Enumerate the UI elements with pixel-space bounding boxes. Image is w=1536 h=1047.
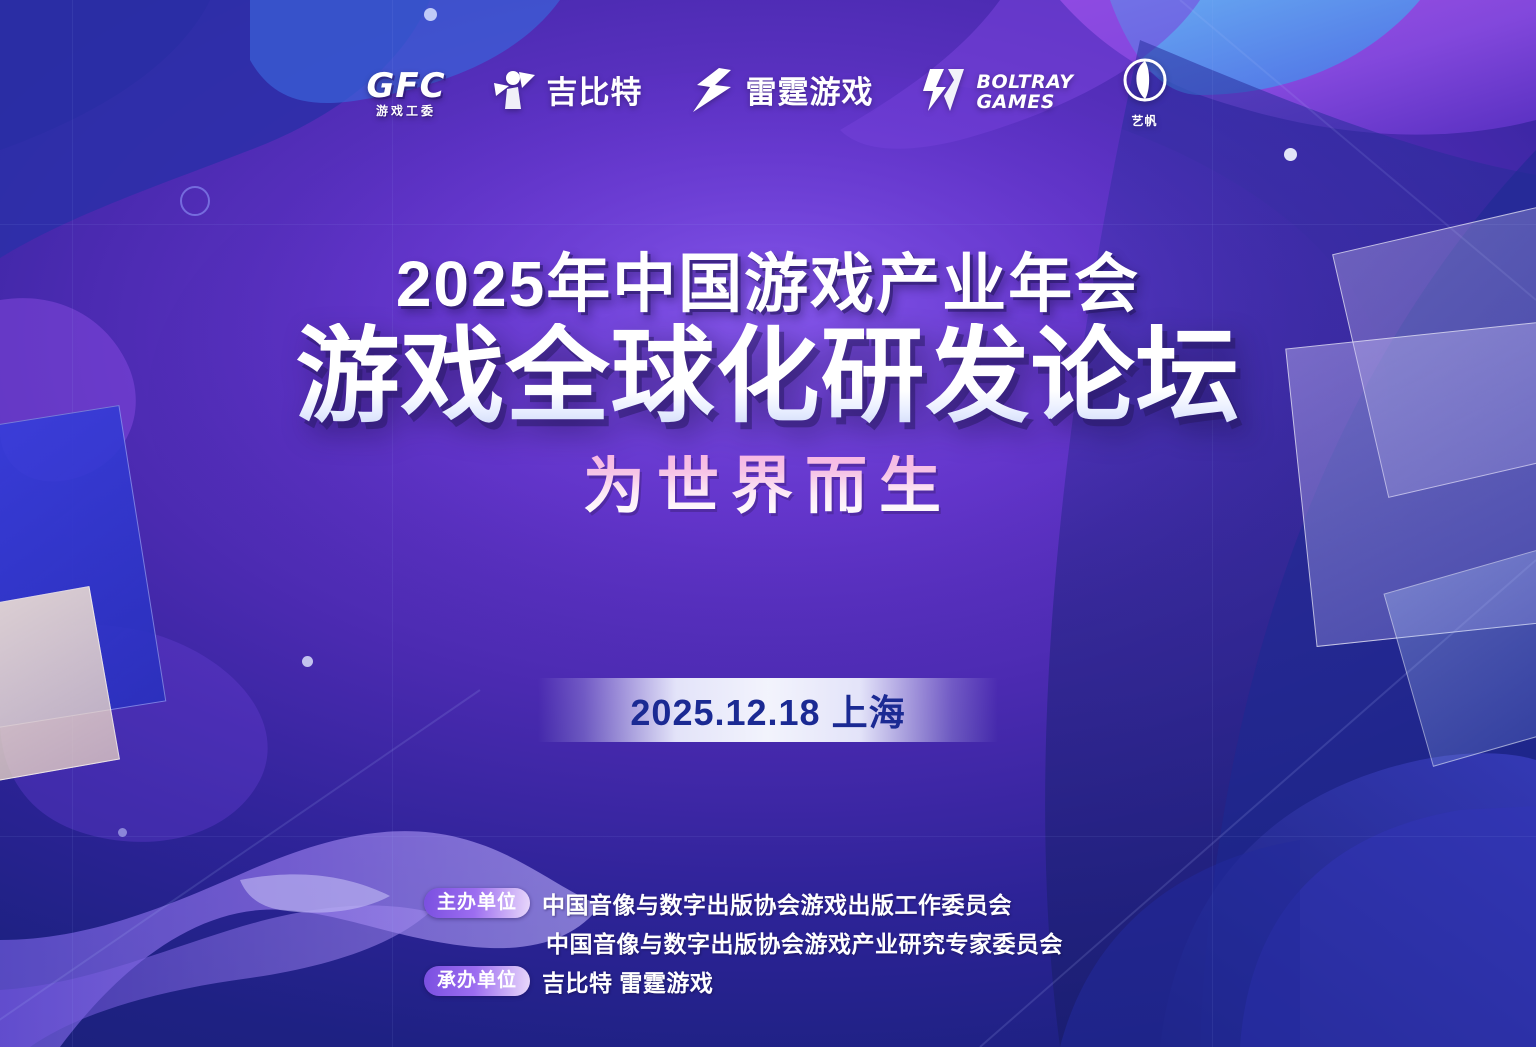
logo-yifan[interactable]: 艺帆 [1120,56,1170,129]
credit-row-organizer: 主办单位 中国音像与数字出版协会游戏出版工作委员会 [424,886,1063,920]
headings-block: 2025年中国游戏产业年会 游戏全球化研发论坛 为世界而生 [0,250,1536,517]
grid-line-vertical [1212,0,1213,1047]
event-year-title: 2025年中国游戏产业年会 [0,250,1536,319]
dot-decoration [424,8,437,21]
poster-root: GFC 游戏工委 吉比特 雷霆游戏 [0,0,1536,1047]
page-title: 游戏全球化研发论坛 [0,323,1536,431]
gfc-logo-icon: GFC [366,69,445,103]
gfc-logo-subtitle: 游戏工委 [376,105,436,117]
dot-decoration [118,828,127,837]
boltray-line2: GAMES [977,91,1055,113]
credit-row-host: 承办单位 吉比特 雷霆游戏 [424,964,1063,998]
jibit-logo-icon [492,67,538,118]
date-location-banner: 2025.12.18 上海 [538,678,998,742]
yifan-logo-label: 艺帆 [1132,112,1158,129]
date-location-text: 2025.12.18 上海 [630,684,905,736]
host-badge: 承办单位 [424,966,530,996]
logo-leiting[interactable]: 雷霆游戏 [689,67,874,118]
logo-boltray[interactable]: BOLTRAY GAMES [920,66,1074,119]
boltray-logo-label: BOLTRAY GAMES [977,73,1074,113]
logo-gfc[interactable]: GFC 游戏工委 [366,69,445,117]
circle-ring-decoration [180,186,210,216]
organizer-badge: 主办单位 [424,888,530,918]
logo-jibit[interactable]: 吉比特 [492,67,643,118]
dot-decoration [302,656,313,667]
bolt-logo-icon [689,67,737,118]
jibit-logo-label: 吉比特 [547,77,643,108]
credits-block: 主办单位 中国音像与数字出版协会游戏出版工作委员会 中国音像与数字出版协会游戏产… [424,886,1063,998]
credit-row-organizer-2: 中国音像与数字出版协会游戏产业研究专家委员会 [424,925,1063,959]
tagline: 为世界而生 [0,455,1536,517]
sponsor-logo-bar: GFC 游戏工委 吉比特 雷霆游戏 [0,56,1536,129]
organizer-line-1: 中国音像与数字出版协会游戏出版工作委员会 [542,886,1012,920]
yifan-logo-icon [1120,56,1170,111]
host-line: 吉比特 雷霆游戏 [542,964,713,998]
grid-line-horizontal [0,836,1536,837]
dot-decoration [1284,148,1297,161]
grid-line-vertical [392,0,393,1047]
grid-line-horizontal [0,224,1536,225]
boltray-line1: BOLTRAY [977,71,1074,93]
organizer-line-2: 中国音像与数字出版协会游戏产业研究专家委员会 [546,925,1063,959]
boltray-logo-icon [920,66,968,119]
leiting-logo-label: 雷霆游戏 [746,77,874,108]
